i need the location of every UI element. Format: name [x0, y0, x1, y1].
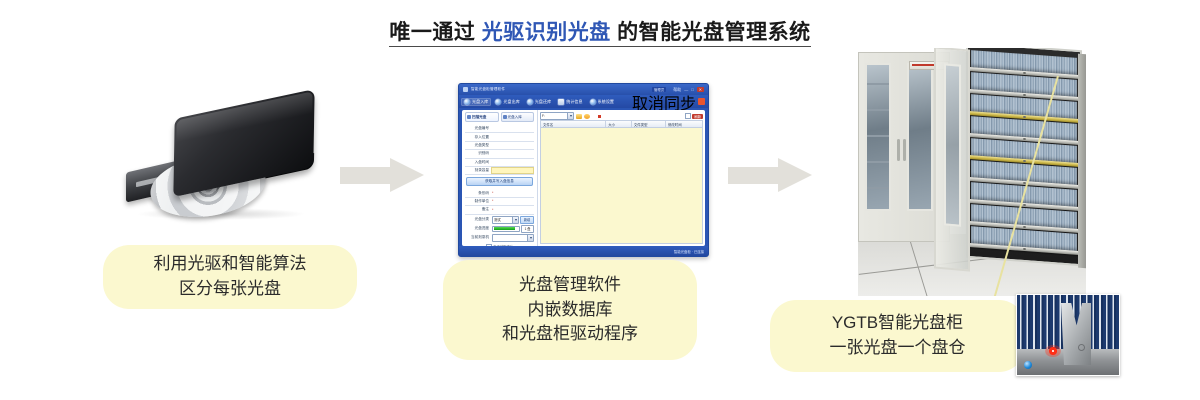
disc-category-row: 光盘分类 测试 新增	[465, 216, 534, 224]
glass-pane-right	[907, 63, 933, 211]
tab-disc-in[interactable]: 光盘入库	[501, 112, 535, 122]
select-all-checkbox[interactable]	[685, 113, 691, 119]
page-title-part2: 的智能光盘管理系统	[617, 21, 811, 47]
flow-arrow-1	[340, 158, 424, 192]
slide-canvas: 唯一通过 光驱识别光盘 的智能光盘管理系统 智能光盘柜管理软件 管理员 帮助 —…	[0, 0, 1200, 400]
folder-icon[interactable]	[576, 114, 582, 119]
page-title-part1: 唯一通过	[389, 21, 475, 47]
tab-scan-disc[interactable]: 扫描光盘	[465, 112, 499, 122]
arrow-head-icon	[778, 158, 812, 192]
disc-in-icon	[464, 99, 470, 105]
current-burner-row: 当前刻录机	[465, 234, 534, 242]
form-row-maker[interactable]: 制作单位 *	[465, 198, 534, 206]
barcode-input[interactable]	[493, 191, 534, 196]
scan-write-button[interactable]: 获取并写入盘信息	[466, 177, 533, 186]
app-window-title: 智能光盘柜管理软件	[471, 87, 505, 92]
form-row-identifier[interactable]: 识别码	[465, 150, 534, 158]
file-list-header: 文件名 大小 文件类型 修改时间	[540, 120, 703, 127]
disc-cabinet-photo	[858, 48, 1086, 296]
disc-in-small-icon	[503, 115, 507, 119]
app-status-bar: 智能光盘柜 · 已连接	[459, 246, 708, 256]
file-list-toolbar: F: 刷新	[540, 112, 703, 120]
chevron-down-icon[interactable]	[527, 235, 533, 241]
toolbar-button-disc-out[interactable]: 光盘出库	[492, 98, 522, 106]
toolbar-button-disc-return[interactable]: 光盘还库	[524, 98, 554, 106]
drive-path-select[interactable]: F:	[540, 112, 574, 120]
page-title-highlight: 光驱识别光盘	[482, 21, 611, 47]
stop-icon[interactable]	[598, 115, 601, 118]
form-row-location[interactable]: 存入位置	[465, 133, 534, 141]
form-row-disc-type[interactable]: 光盘类型	[465, 142, 534, 150]
remark-input[interactable]	[493, 207, 534, 212]
cabinet-shelf-frame	[966, 48, 1082, 266]
disc-management-software-window: 智能光盘柜管理软件 管理员 帮助 — □ ✕ 光盘入库 光盘出库 光盘还库	[458, 83, 709, 257]
disc-progress-row: 光盘进度 1 盘	[465, 225, 534, 233]
disc-return-icon	[527, 99, 533, 105]
disc-category-select[interactable]: 测试	[492, 216, 519, 224]
disc-slot-closeup-photo	[1016, 294, 1120, 376]
form-row-burn-capacity[interactable]: 刻录容量	[465, 167, 534, 175]
cabinet-right-panel	[1078, 54, 1086, 269]
toolbar-button-disc-in[interactable]: 光盘入库	[461, 98, 491, 106]
arrow-shaft	[340, 167, 392, 184]
drive-body	[173, 89, 314, 197]
form-row-barcode[interactable]: 条形码 *	[465, 189, 534, 197]
disc-type-input[interactable]	[491, 143, 534, 148]
sync-icon[interactable]	[698, 98, 705, 105]
bg-shelf	[867, 83, 889, 85]
form-row-disc-no[interactable]: 光盘编号	[465, 125, 534, 133]
stats-icon	[558, 99, 564, 105]
page-title: 唯一通过 光驱识别光盘 的智能光盘管理系统	[0, 16, 1200, 46]
scan-icon	[467, 115, 471, 119]
app-content: 扫描光盘 光盘入库 光盘编号 存入位置 光盘类型	[462, 110, 705, 246]
led-indicator	[1024, 361, 1032, 369]
file-list-body[interactable]	[540, 127, 703, 244]
intake-time-input[interactable]	[491, 160, 534, 165]
disc-out-icon	[495, 99, 501, 105]
flow-arrow-2	[728, 158, 812, 192]
bg-shelf	[867, 187, 889, 189]
progress-bar	[492, 226, 520, 232]
arrow-shaft	[728, 167, 780, 184]
gear-icon	[590, 99, 596, 105]
door-handle	[903, 139, 906, 161]
caption-step-software: 光盘管理软件 内嵌数据库 和光盘柜驱动程序	[443, 260, 697, 360]
refresh-button[interactable]: 刷新	[692, 114, 703, 119]
cabinet-open-door	[934, 48, 970, 272]
disc-form-panel: 扫描光盘 光盘入库 光盘编号 存入位置 光盘类型	[462, 110, 538, 246]
optical-drive-photo	[112, 98, 324, 224]
toolbar-button-stats[interactable]: 统计信息	[555, 98, 585, 106]
disc-no-input[interactable]	[491, 126, 534, 131]
app-toolbar: 光盘入库 光盘出库 光盘还库 统计信息 系统设置 取消同步	[459, 95, 708, 108]
form-tabs: 扫描光盘 光盘入库	[465, 112, 534, 122]
laser-indicator	[1045, 345, 1061, 357]
file-list-panel: F: 刷新 文件名 大小 文件类型 修改时间	[538, 110, 705, 246]
maker-input[interactable]	[493, 199, 534, 204]
bg-shelf	[867, 109, 889, 111]
app-logo-icon	[463, 87, 468, 92]
burn-capacity-input[interactable]	[491, 167, 534, 174]
caption-step-drive: 利用光驱和智能算法 区分每张光盘	[103, 245, 357, 309]
bg-shelf	[867, 135, 889, 137]
door-glass-pane	[944, 63, 961, 226]
disc-count-stepper[interactable]: 1 盘	[521, 225, 534, 233]
door-handle	[897, 139, 900, 161]
caption-step-cabinet: YGTB智能光盘柜 一张光盘一个盘仓	[770, 300, 1025, 372]
bg-shelf	[867, 161, 889, 163]
refresh-disc-icon[interactable]	[584, 114, 590, 119]
chevron-down-icon[interactable]	[512, 217, 518, 223]
location-input[interactable]	[491, 135, 534, 140]
add-category-button[interactable]: 新增	[520, 216, 534, 224]
form-row-intake-time[interactable]: 入盘时间	[465, 159, 534, 167]
identifier-input[interactable]	[491, 151, 534, 156]
form-row-remark[interactable]: 备注 *	[465, 206, 534, 214]
current-burner-select[interactable]	[492, 234, 534, 242]
chevron-down-icon[interactable]	[567, 113, 573, 119]
arrow-head-icon	[390, 158, 424, 192]
toolbar-button-settings[interactable]: 系统设置	[587, 98, 617, 106]
